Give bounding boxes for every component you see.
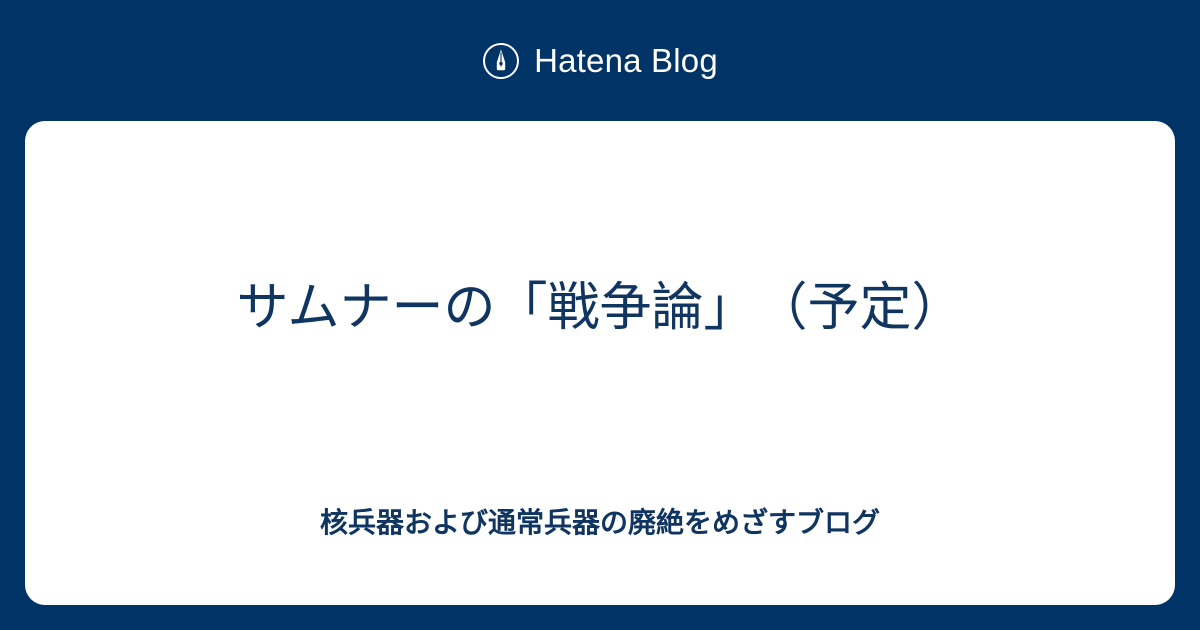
entry-title: サムナーの「戦争論」 （予定） bbox=[25, 276, 1175, 341]
blog-subtitle: 核兵器および通常兵器の廃絶をめざすブログ bbox=[25, 505, 1175, 541]
entry-card: サムナーの「戦争論」 （予定） 核兵器および通常兵器の廃絶をめざすブログ bbox=[25, 121, 1175, 605]
hatena-blog-brand[interactable]: Hatena Blog bbox=[482, 42, 718, 80]
hatena-blog-wordmark: Hatena Blog bbox=[534, 44, 718, 77]
hatena-pen-nib-icon bbox=[482, 42, 520, 80]
site-header: Hatena Blog bbox=[0, 0, 1200, 121]
